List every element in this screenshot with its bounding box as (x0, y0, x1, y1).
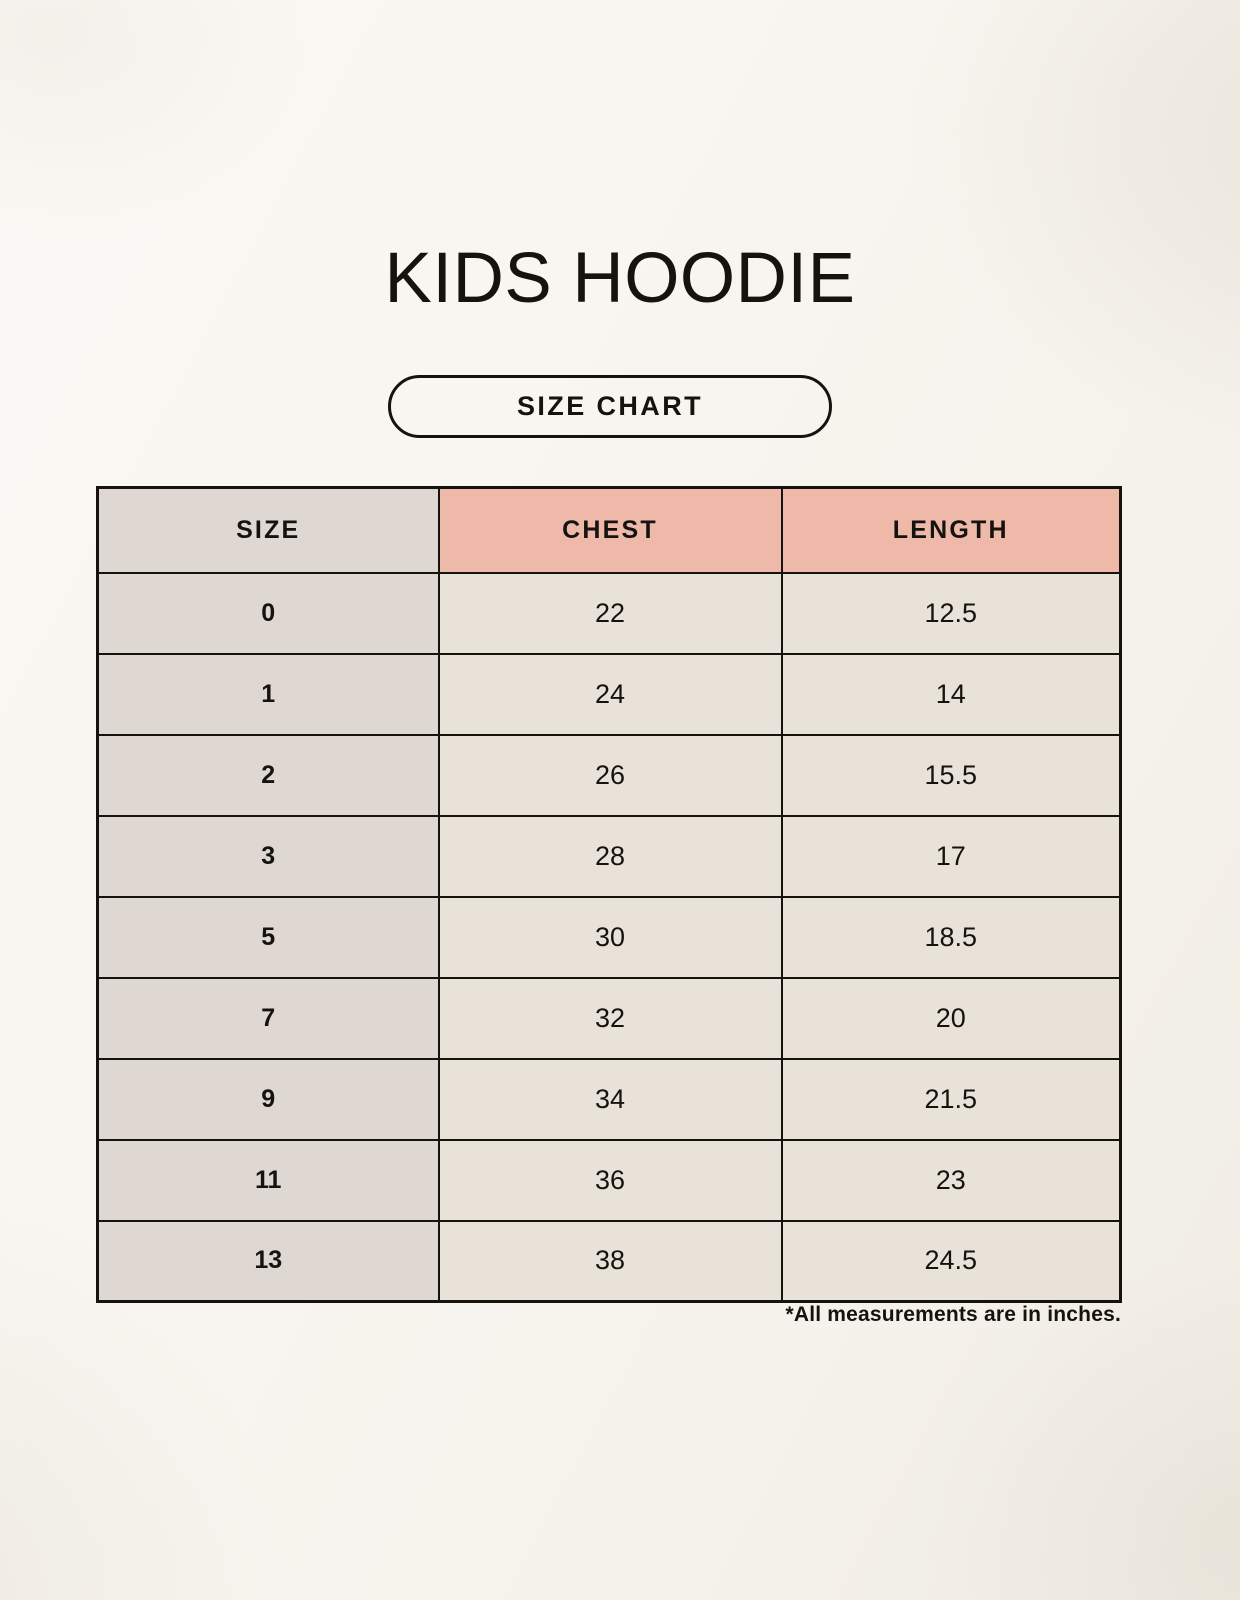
cell-length: 24.5 (782, 1221, 1121, 1302)
cell-length: 15.5 (782, 735, 1121, 816)
table-row: 02212.5 (98, 573, 1121, 654)
table-row: 113623 (98, 1140, 1121, 1221)
cell-size: 2 (98, 735, 439, 816)
size-table-head: SIZE CHEST LENGTH (98, 488, 1121, 573)
cell-length: 17 (782, 816, 1121, 897)
table-row: 32817 (98, 816, 1121, 897)
table-row: 53018.5 (98, 897, 1121, 978)
cell-size: 3 (98, 816, 439, 897)
cell-chest: 24 (439, 654, 782, 735)
cell-size: 7 (98, 978, 439, 1059)
size-chart-badge: SIZE CHART (388, 375, 832, 438)
cell-size: 5 (98, 897, 439, 978)
cell-length: 23 (782, 1140, 1121, 1221)
cell-size: 9 (98, 1059, 439, 1140)
column-header-length: LENGTH (782, 488, 1121, 573)
cell-length: 14 (782, 654, 1121, 735)
cell-chest: 38 (439, 1221, 782, 1302)
cell-size: 11 (98, 1140, 439, 1221)
table-row: 133824.5 (98, 1221, 1121, 1302)
column-header-chest: CHEST (439, 488, 782, 573)
cell-chest: 32 (439, 978, 782, 1059)
cell-size: 1 (98, 654, 439, 735)
size-chart-page: KIDS HOODIE SIZE CHART SIZE CHEST LENGTH… (0, 0, 1240, 1600)
cell-chest: 22 (439, 573, 782, 654)
cell-length: 20 (782, 978, 1121, 1059)
cell-length: 18.5 (782, 897, 1121, 978)
cell-length: 21.5 (782, 1059, 1121, 1140)
cell-size: 13 (98, 1221, 439, 1302)
measurements-footnote: *All measurements are in inches. (0, 1303, 1121, 1327)
cell-chest: 34 (439, 1059, 782, 1140)
size-table-container: SIZE CHEST LENGTH 02212.51241422615.5328… (96, 486, 1119, 1303)
cell-size: 0 (98, 573, 439, 654)
table-row: 22615.5 (98, 735, 1121, 816)
page-title: KIDS HOODIE (0, 243, 1240, 314)
table-row: 93421.5 (98, 1059, 1121, 1140)
size-chart-badge-label: SIZE CHART (517, 391, 703, 422)
size-table-body: 02212.51241422615.53281753018.5732209342… (98, 573, 1121, 1302)
cell-chest: 30 (439, 897, 782, 978)
table-row: 73220 (98, 978, 1121, 1059)
size-table: SIZE CHEST LENGTH 02212.51241422615.5328… (96, 486, 1122, 1303)
cell-chest: 26 (439, 735, 782, 816)
cell-length: 12.5 (782, 573, 1121, 654)
cell-chest: 28 (439, 816, 782, 897)
cell-chest: 36 (439, 1140, 782, 1221)
column-header-size: SIZE (98, 488, 439, 573)
table-header-row: SIZE CHEST LENGTH (98, 488, 1121, 573)
table-row: 12414 (98, 654, 1121, 735)
